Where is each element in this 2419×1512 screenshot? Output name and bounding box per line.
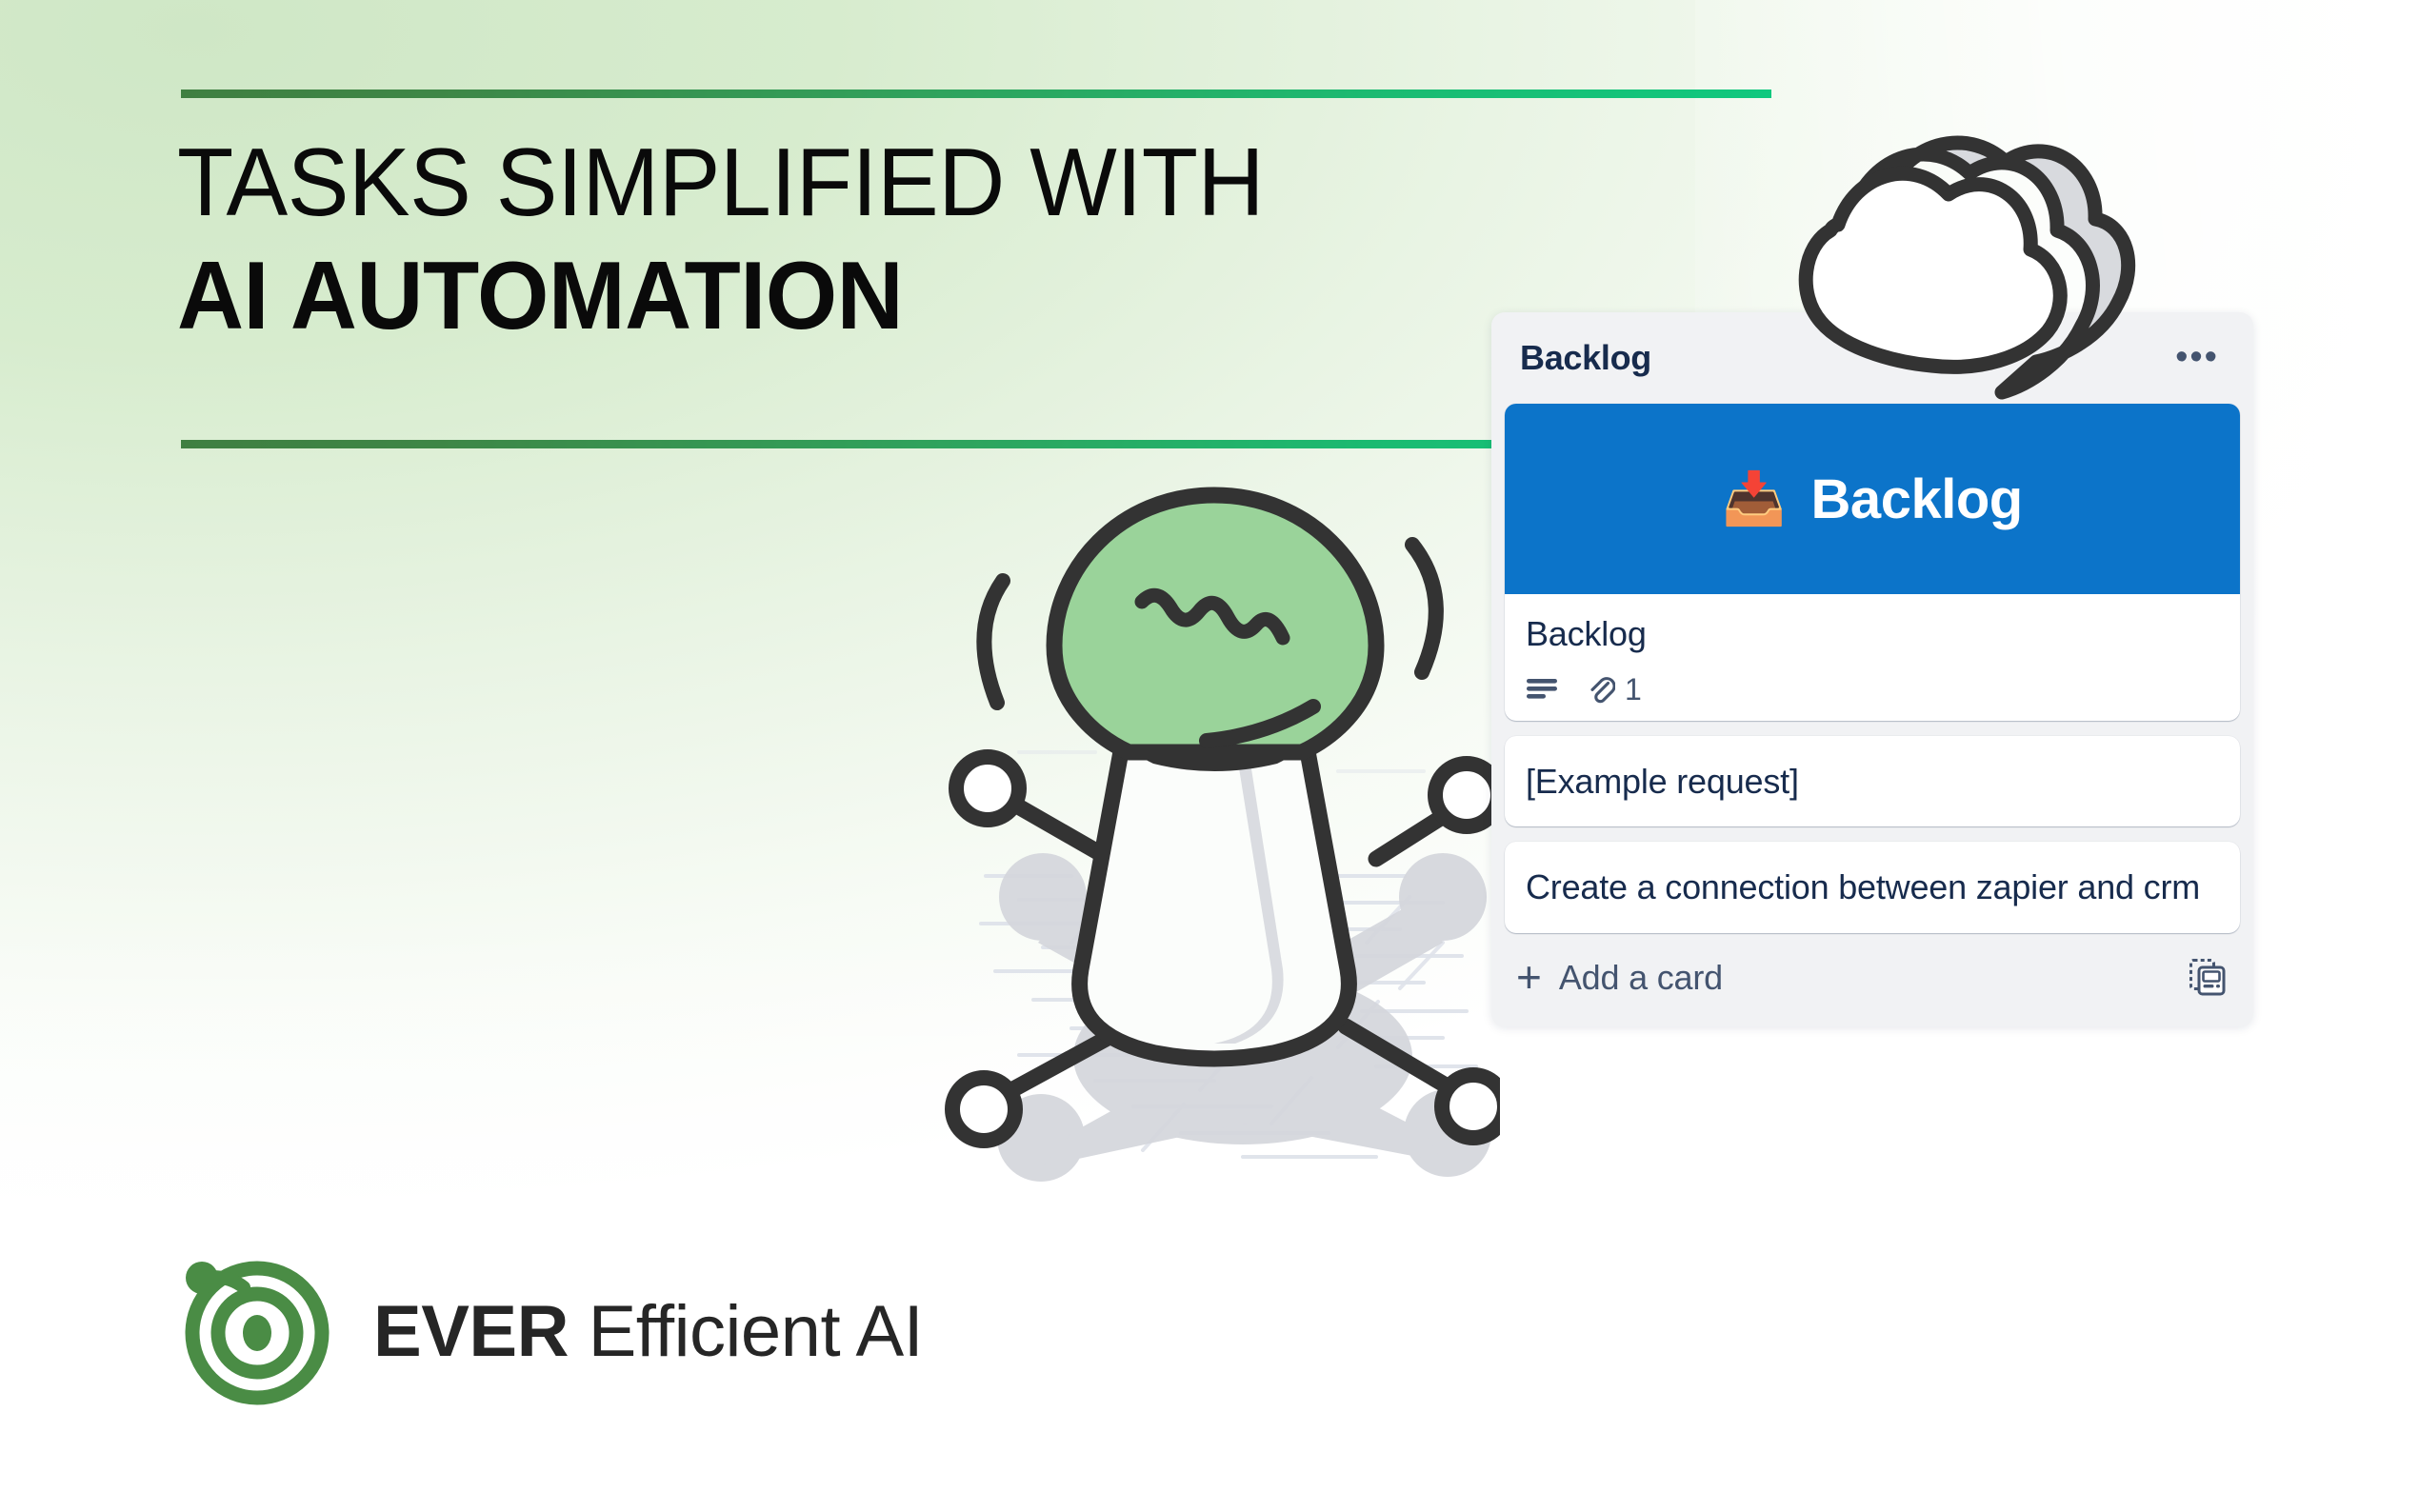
card-cover: 📥 Backlog bbox=[1505, 404, 2240, 594]
add-a-card-button[interactable]: + Add a card bbox=[1505, 933, 2240, 1026]
card-template-icon[interactable] bbox=[2189, 958, 2227, 998]
plus-icon: + bbox=[1516, 960, 1542, 995]
attachment-badge: 1 bbox=[1587, 672, 1642, 707]
card-title: Backlog bbox=[1526, 611, 2221, 657]
lightbulb-robot-illustration bbox=[929, 467, 1500, 1219]
brand-name-bold: EVER bbox=[373, 1291, 569, 1372]
card-badges: 1 bbox=[1526, 672, 2221, 707]
inbox-tray-emoji: 📥 bbox=[1722, 473, 1786, 525]
add-a-card-label: Add a card bbox=[1559, 958, 1723, 998]
add-a-card-left: + Add a card bbox=[1516, 958, 1723, 998]
brand-name-regular: Efficient AI bbox=[569, 1291, 923, 1372]
list-menu-icon[interactable]: ••• bbox=[2164, 337, 2230, 378]
card-cover-label: Backlog bbox=[1811, 468, 2023, 531]
card-zapier-crm[interactable]: Create a connection between zapier and c… bbox=[1505, 842, 2240, 933]
brand-logo-text: EVER Efficient AI bbox=[373, 1290, 923, 1373]
description-badge bbox=[1526, 677, 1558, 702]
paperclip-icon bbox=[1587, 674, 1615, 705]
card-body: Backlog 1 bbox=[1505, 594, 2240, 721]
description-icon bbox=[1526, 677, 1558, 702]
headline-rule-top bbox=[181, 90, 1771, 98]
brand-logo: EVER Efficient AI bbox=[173, 1247, 923, 1415]
card-backlog[interactable]: 📥 Backlog Backlog bbox=[1505, 404, 2240, 721]
card-example-request[interactable]: [Example request] bbox=[1505, 736, 2240, 827]
card-list: 📥 Backlog Backlog bbox=[1505, 404, 2240, 933]
list-header: Backlog ••• bbox=[1505, 312, 2240, 404]
list-title: Backlog bbox=[1520, 338, 1651, 378]
ever-efficient-target-icon bbox=[173, 1247, 341, 1415]
headline-line-2: AI AUTOMATION bbox=[177, 249, 1475, 345]
headline-block: TASKS SIMPLIFIED WITH AI AUTOMATION bbox=[177, 135, 1529, 345]
card-title: Create a connection between zapier and c… bbox=[1526, 865, 2221, 910]
card-title: [Example request] bbox=[1526, 759, 2221, 805]
board-list-backlog: Backlog ••• 📥 Backlog Backlog bbox=[1491, 312, 2253, 1026]
headline-line-1: TASKS SIMPLIFIED WITH bbox=[177, 135, 1475, 231]
attachment-count: 1 bbox=[1625, 672, 1642, 707]
